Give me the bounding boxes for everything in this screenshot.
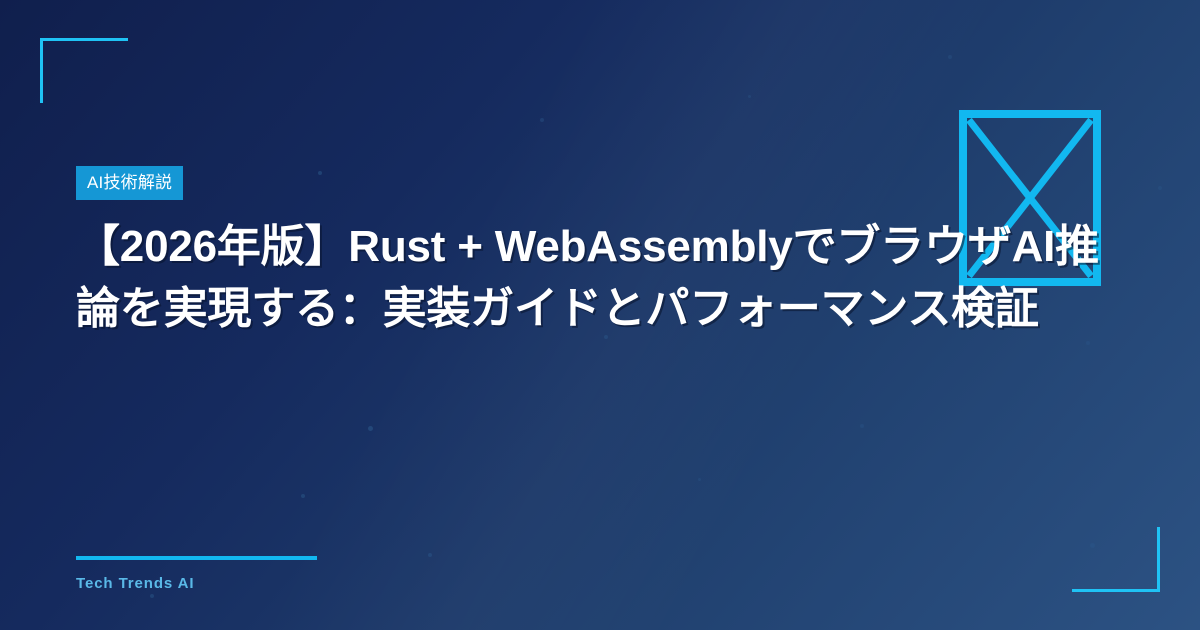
brand-name: Tech Trends AI — [76, 576, 194, 591]
category-badge: AI技術解説 — [76, 166, 183, 200]
card-footer: Tech Trends AI — [76, 510, 1136, 630]
footer-accent-rule — [76, 556, 317, 560]
card-content: AI技術解説 【2026年版】Rust + WebAssemblyでブラウザAI… — [76, 0, 1136, 630]
particle-dot — [1158, 186, 1162, 190]
page-title: 【2026年版】Rust + WebAssemblyでブラウザAI推論を実現する… — [76, 216, 1132, 339]
social-share-card: AI技術解説 【2026年版】Rust + WebAssemblyでブラウザAI… — [0, 0, 1200, 630]
